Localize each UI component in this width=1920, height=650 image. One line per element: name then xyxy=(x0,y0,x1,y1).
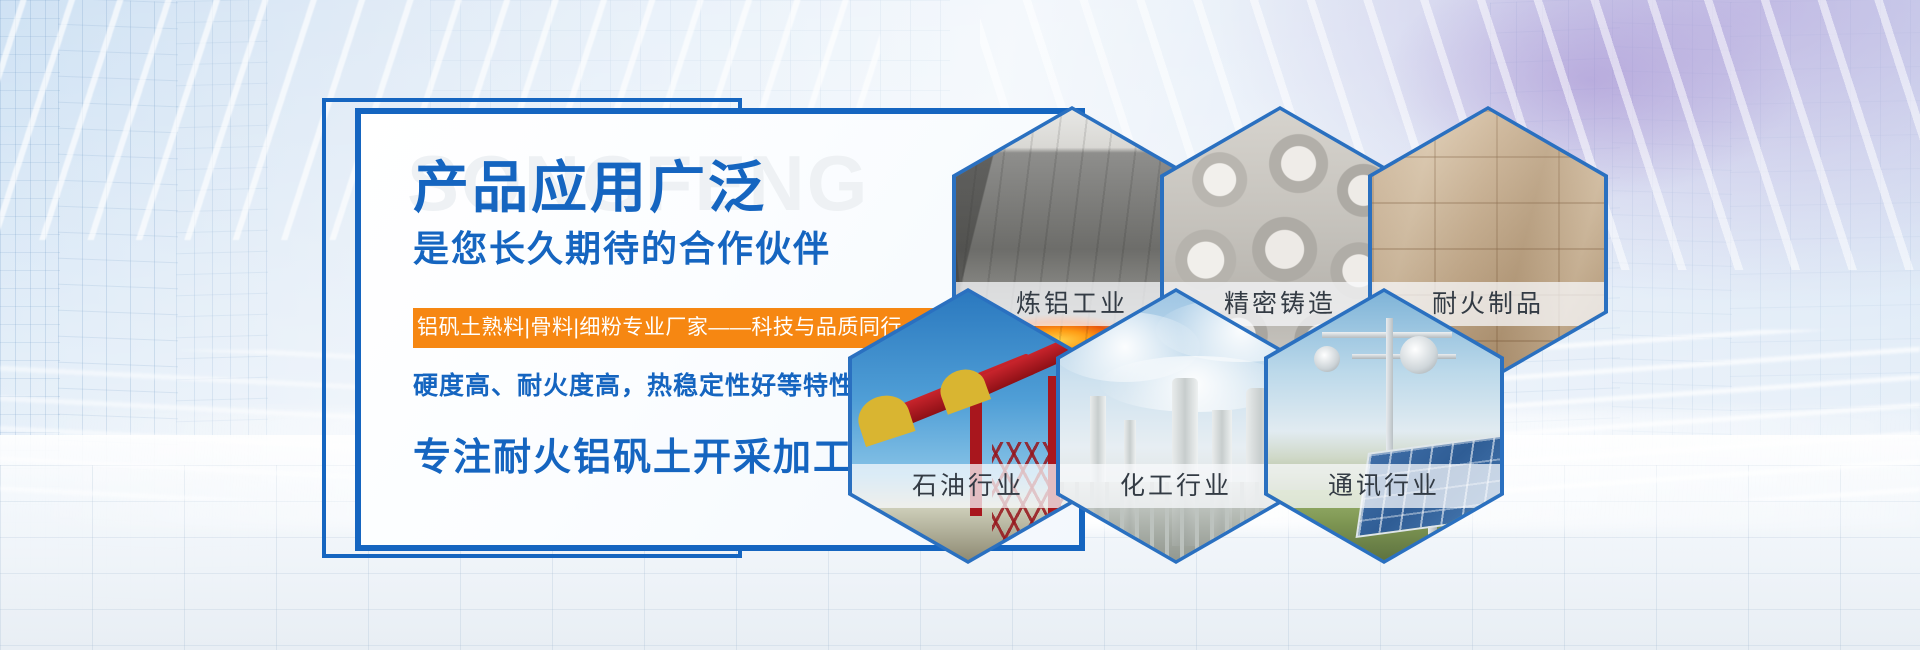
hex-label-huagong: 化工行业 xyxy=(1060,464,1292,508)
promo-banner: SONGFENG 产品应用广泛 是您长久期待的合作伙伴 铝矾土熟料|骨料|细粉专… xyxy=(0,0,1920,650)
hex-label-tongxun: 通讯行业 xyxy=(1268,464,1500,508)
industry-hex-cluster: 炼铝工业 精密铸造 耐火制品 xyxy=(0,0,1920,650)
hex-label-shiyou: 石油行业 xyxy=(852,464,1084,508)
